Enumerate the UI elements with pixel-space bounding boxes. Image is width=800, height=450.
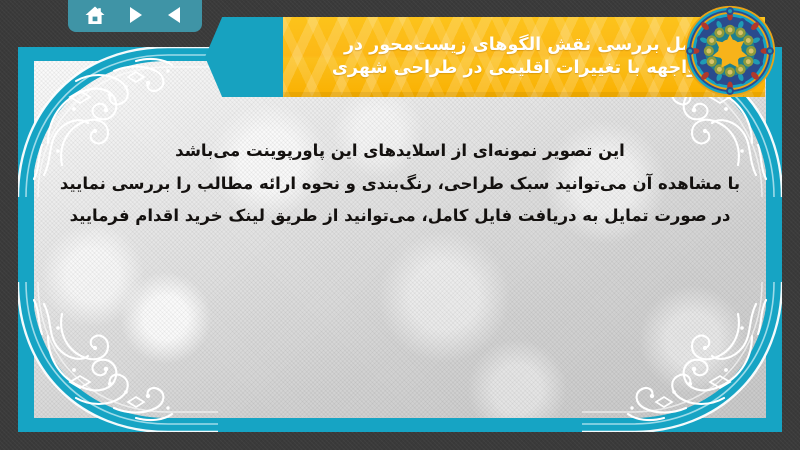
title-banner: کامل بررسی نقش الگوهای زیست‌محور در مواج… — [205, 17, 765, 97]
back-button[interactable] — [162, 3, 188, 27]
app-background: کامل بررسی نقش الگوهای زیست‌محور در مواج… — [0, 0, 800, 450]
home-button[interactable] — [82, 3, 108, 27]
slide-body-text: این تصویر نمونه‌ای از اسلایدهای این پاور… — [18, 135, 782, 233]
banner-title-line-2: مواجهه با تغییرات اقلیمی در طراحی شهری — [223, 57, 709, 80]
navigation-bar — [68, 0, 202, 32]
banner-title-line-1: کامل بررسی نقش الگوهای زیست‌محور در — [223, 34, 709, 57]
slide-frame: این تصویر نمونه‌ای از اسلایدهای این پاور… — [18, 47, 782, 432]
body-line-3: در صورت تمایل به دریافت فایل کامل، می‌تو… — [48, 200, 752, 233]
slide-canvas — [34, 61, 766, 418]
body-line-2: با مشاهده آن می‌توانید سبک طراحی، رنگ‌بن… — [48, 168, 752, 201]
triangle-left-icon — [165, 5, 185, 25]
persian-mandala-icon — [683, 4, 777, 98]
home-icon — [84, 5, 106, 26]
body-line-1: این تصویر نمونه‌ای از اسلایدهای این پاور… — [48, 135, 752, 168]
triangle-right-icon — [125, 5, 145, 25]
banner-title: کامل بررسی نقش الگوهای زیست‌محور در مواج… — [205, 17, 765, 97]
forward-button[interactable] — [122, 3, 148, 27]
